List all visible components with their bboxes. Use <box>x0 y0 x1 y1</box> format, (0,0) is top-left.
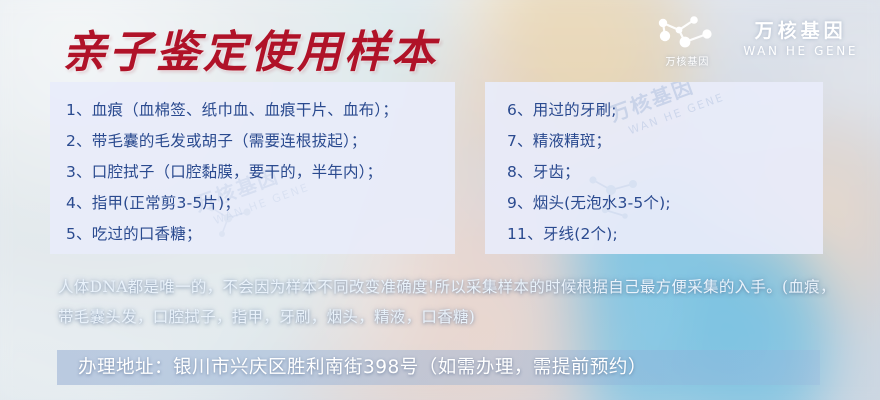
page-title: 亲子鉴定使用样本 <box>62 16 438 80</box>
sample-panel-right: 万核基因 WAN HE GENE 6、 <box>485 82 823 254</box>
list-item: 2、带毛囊的毛发或胡子（需要连根拔起）； <box>66 126 455 157</box>
sample-list-left: 1、血痕（血棉签、纸巾血、血痕干片、血布）； 2、带毛囊的毛发或胡子（需要连根拔… <box>50 82 455 250</box>
logo-mark-caption: 万核基因 <box>665 53 709 68</box>
sample-panel-left: 万核基因 WAN HE GENE 1、血痕（血棉签、纸巾血、血痕干片、血布）； <box>50 82 455 254</box>
list-item: 3、口腔拭子（口腔黏膜，要干的，半年内）； <box>66 157 455 188</box>
logo-wordmark: 万核基因 WAN HE GENE <box>743 21 858 58</box>
list-item: 5、吃过的口香糖； <box>66 219 455 250</box>
list-item: 8、牙齿； <box>507 157 823 188</box>
molecule-icon <box>649 14 725 52</box>
list-item: 6、用过的牙刷; <box>507 95 823 126</box>
list-item: 1、血痕（血棉签、纸巾血、血痕干片、血布）； <box>66 95 455 126</box>
brand-logo: 万核基因 万核基因 WAN HE GENE <box>649 14 858 66</box>
logo-mark: 万核基因 <box>649 14 725 66</box>
note-paragraph: 人体DNA都是唯一的，不会因为样本不同改变准确度!所以采集样本的时候根据自己最方… <box>58 272 848 332</box>
list-item: 9、烟头(无泡水3-5个); <box>507 188 823 219</box>
logo-brand-en: WAN HE GENE <box>743 45 858 58</box>
sample-list-right: 6、用过的牙刷; 7、精液精斑； 8、牙齿； 9、烟头(无泡水3-5个); 11… <box>485 82 823 250</box>
poster-canvas: 万核基因 万核基因 WAN HE GENE 亲子鉴定使用样本 万核基因 WAN … <box>0 0 880 400</box>
logo-brand-cn: 万核基因 <box>755 21 847 42</box>
list-item: 4、指甲(正常剪3-5片)； <box>66 188 455 219</box>
list-item: 11、牙线(2个); <box>507 219 823 250</box>
list-item: 7、精液精斑； <box>507 126 823 157</box>
address-text: 办理地址：银川市兴庆区胜利南街398号（如需办理，需提前预约） <box>78 352 647 383</box>
